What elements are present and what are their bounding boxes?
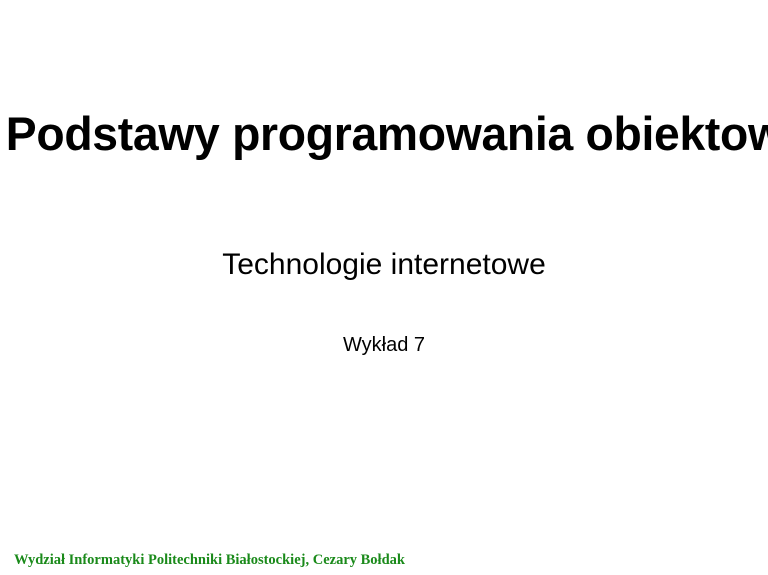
title-slide: Podstawy programowania obiektowego Techn… bbox=[0, 0, 768, 575]
footer-affiliation: Wydział Informatyki Politechniki Białost… bbox=[14, 551, 405, 569]
lecture-number: Wykład 7 bbox=[0, 332, 768, 358]
page-title: Podstawy programowania obiektowego bbox=[6, 106, 762, 162]
slide-subtitle: Technologie internetowe bbox=[0, 246, 768, 284]
